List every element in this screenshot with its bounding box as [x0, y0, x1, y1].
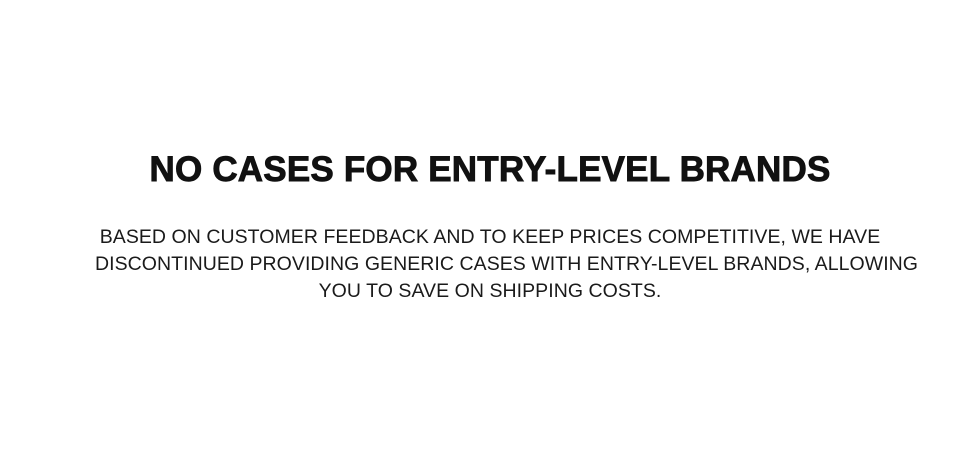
notice-body-text: BASED ON CUSTOMER FEEDBACK AND TO KEEP P…: [95, 224, 885, 305]
policy-notice-section: NO CASES FOR ENTRY-LEVEL BRANDS BASED ON…: [0, 0, 980, 450]
page-title: NO CASES FOR ENTRY-LEVEL BRANDS: [0, 150, 980, 190]
notice-body-line-1: BASED ON CUSTOMER FEEDBACK AND TO KEEP P…: [95, 224, 885, 251]
notice-body-line-2: DISCONTINUED PROVIDING GENERIC CASES WIT…: [95, 251, 885, 278]
notice-body-line-3: YOU TO SAVE ON SHIPPING COSTS.: [95, 278, 885, 305]
